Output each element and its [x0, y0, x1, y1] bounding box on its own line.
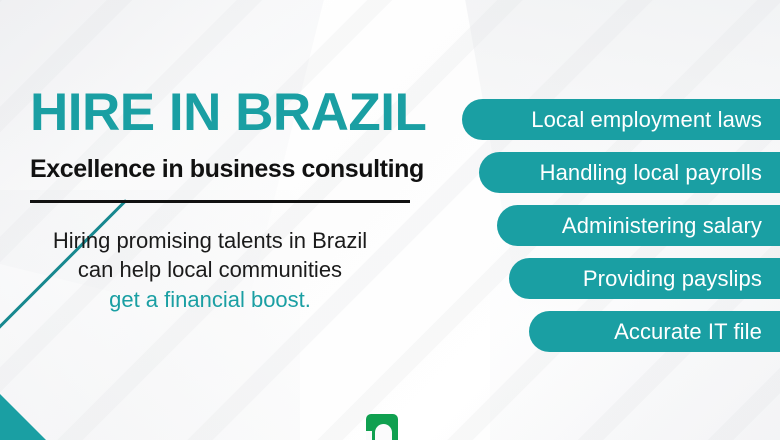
promotional-banner: HIRE IN BRAZIL Excellence in business co…	[0, 0, 780, 440]
service-pill-accurate-it-file[interactable]: Accurate IT file	[529, 311, 780, 352]
body-copy: Hiring promising talents in Brazil can h…	[0, 226, 420, 316]
service-pill-list: Local employment laws Handling local pay…	[450, 99, 780, 352]
service-pill-handling-local-payrolls[interactable]: Handling local payrolls	[479, 152, 780, 193]
page-title: HIRE IN BRAZIL	[30, 86, 446, 139]
service-pill-administering-salary[interactable]: Administering salary	[497, 205, 780, 246]
service-pill-local-employment-laws[interactable]: Local employment laws	[462, 99, 780, 140]
subtitle: Excellence in business consulting	[30, 156, 446, 184]
corner-triangle-accent	[0, 394, 46, 440]
divider-rule	[30, 200, 410, 203]
logo-arch-shape	[375, 424, 392, 440]
logo-notch-shape	[366, 431, 372, 440]
service-pill-providing-payslips[interactable]: Providing payslips	[509, 258, 780, 299]
body-line-2: can help local communities	[0, 255, 420, 285]
headline-block: HIRE IN BRAZIL Excellence in business co…	[0, 86, 446, 315]
body-line-1: Hiring promising talents in Brazil	[0, 226, 420, 256]
body-line-3-highlight: get a financial boost.	[0, 285, 420, 315]
logo-icon	[366, 414, 398, 440]
